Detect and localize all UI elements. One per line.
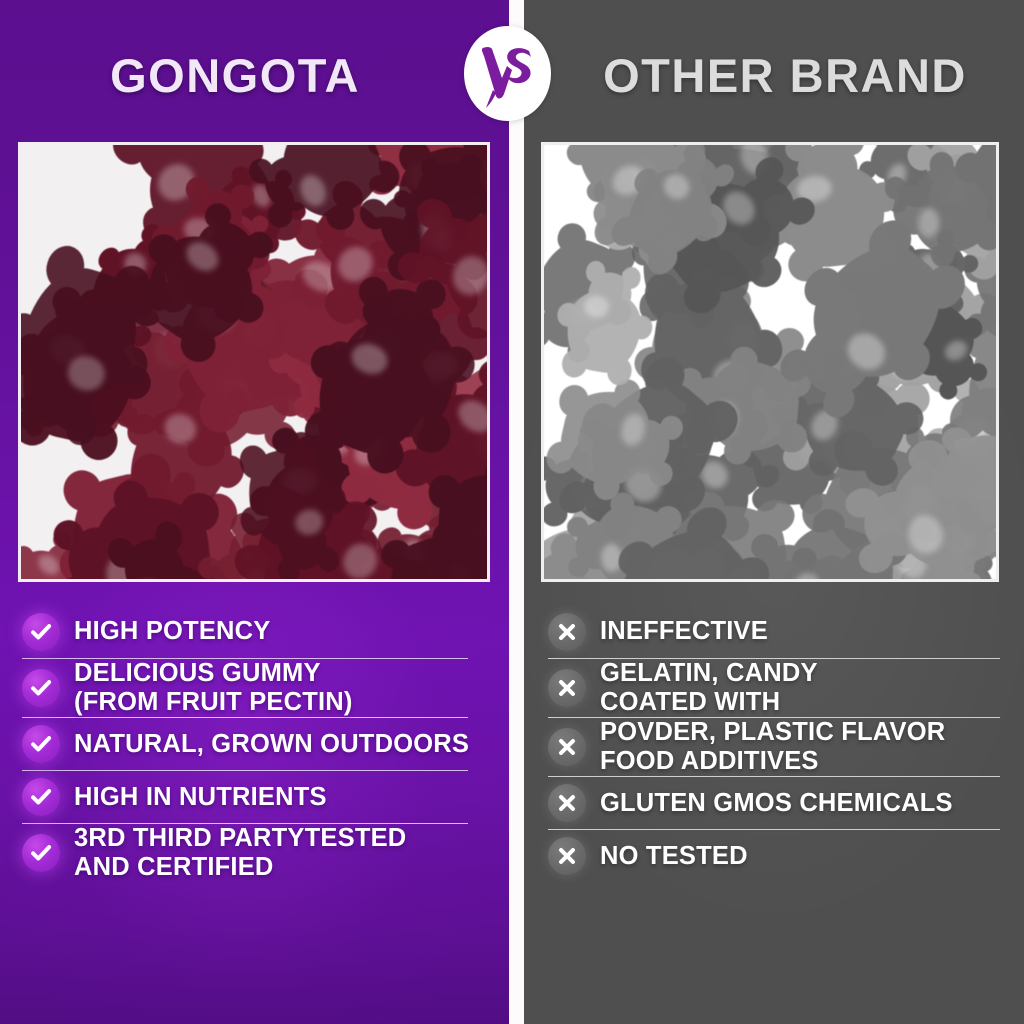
- check-icon: [22, 613, 60, 651]
- left-brand-title: GONGOTA: [0, 52, 470, 99]
- feature-label: HIGH POTENCY: [74, 617, 271, 646]
- feature-label: HIGH IN NUTRIENTS: [74, 783, 327, 812]
- feature-row: INEFFECTIVE: [548, 606, 1004, 658]
- feature-label: GLUTEN GMOS CHEMICALS: [600, 789, 953, 818]
- cross-icon: [548, 669, 586, 707]
- gummy-bear-photo-color: [21, 145, 487, 579]
- feature-row: GLUTEN GMOS CHEMICALS: [548, 777, 1004, 829]
- check-icon: [22, 778, 60, 816]
- feature-row: 3RD THIRD PARTYTESTED AND CERTIFIED: [22, 824, 474, 882]
- feature-row: HIGH IN NUTRIENTS: [22, 771, 474, 823]
- right-product-image: [541, 142, 999, 582]
- right-feature-list: INEFFECTIVEGELATIN, CANDY COATED WITHPOV…: [548, 606, 1004, 882]
- feature-row: NATURAL, GROWN OUTDOORS: [22, 718, 474, 770]
- feature-label: GELATIN, CANDY COATED WITH: [600, 659, 818, 717]
- feature-label: POVDER, PLASTIC FLAVOR FOOD ADDITIVES: [600, 718, 945, 776]
- cross-icon: [548, 728, 586, 766]
- feature-label: NATURAL, GROWN OUTDOORS: [74, 730, 469, 759]
- check-icon: [22, 669, 60, 707]
- feature-label: INEFFECTIVE: [600, 617, 768, 646]
- feature-label: NO TESTED: [600, 842, 748, 871]
- vs-badge: [464, 26, 551, 121]
- feature-row: GELATIN, CANDY COATED WITH: [548, 659, 1004, 717]
- feature-row: POVDER, PLASTIC FLAVOR FOOD ADDITIVES: [548, 718, 1004, 776]
- panel-divider: [509, 0, 524, 1024]
- feature-label: DELICIOUS GUMMY (FROM FRUIT PECTIN): [74, 659, 353, 717]
- right-brand-title: OTHER BRAND: [560, 52, 1010, 99]
- check-icon: [22, 834, 60, 872]
- comparison-infographic: GONGOTA OTHER BRAND HIGH POTENCYDELICIOU…: [0, 0, 1024, 1024]
- feature-row: HIGH POTENCY: [22, 606, 474, 658]
- cross-icon: [548, 784, 586, 822]
- check-icon: [22, 725, 60, 763]
- feature-label: 3RD THIRD PARTYTESTED AND CERTIFIED: [74, 824, 406, 882]
- feature-row: NO TESTED: [548, 830, 1004, 882]
- vs-icon: [477, 38, 539, 110]
- cross-icon: [548, 613, 586, 651]
- gummy-bear-photo-grayscale: [544, 145, 996, 579]
- left-feature-list: HIGH POTENCYDELICIOUS GUMMY (FROM FRUIT …: [22, 606, 474, 882]
- feature-row: DELICIOUS GUMMY (FROM FRUIT PECTIN): [22, 659, 474, 717]
- cross-icon: [548, 837, 586, 875]
- left-product-image: [18, 142, 490, 582]
